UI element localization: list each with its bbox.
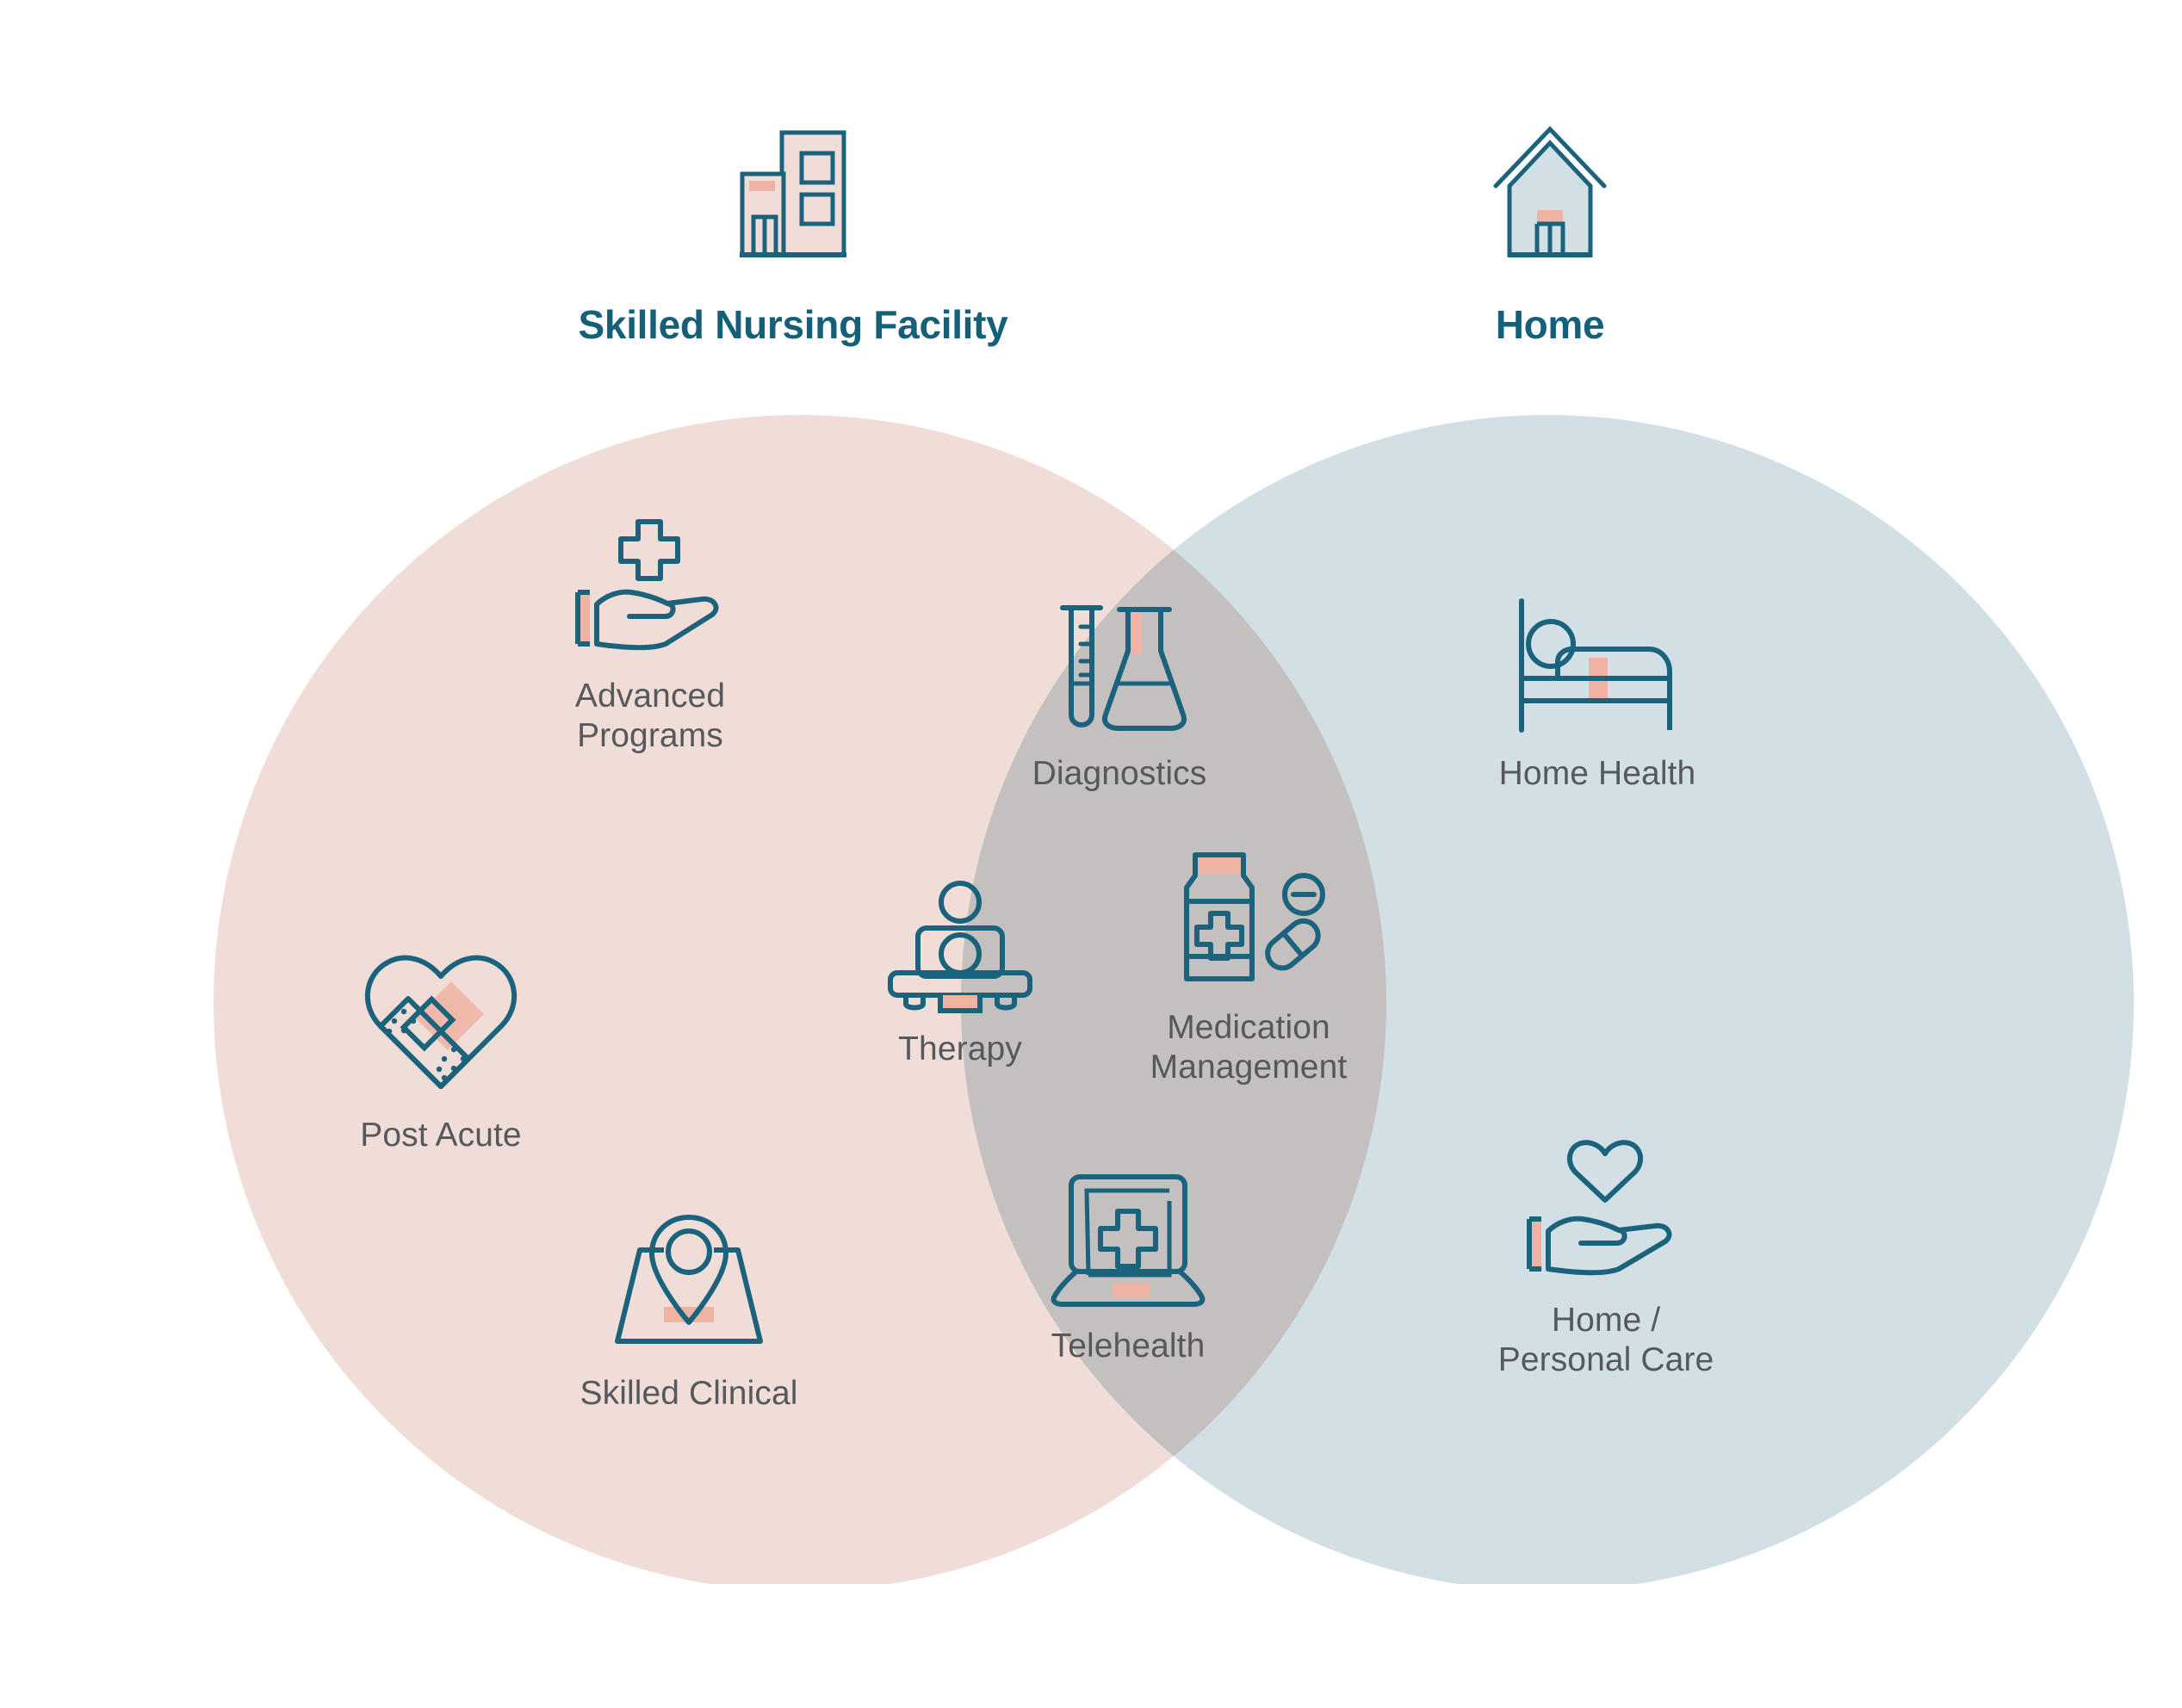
item-home-personal-care: Home / Personal Care — [1464, 1136, 1748, 1380]
item-label: Telehealth — [1051, 1327, 1206, 1366]
item-advanced-programs: Advanced Programs — [508, 517, 792, 756]
item-label: Advanced Programs — [575, 677, 725, 756]
item-medication-management: Medication Management — [1119, 848, 1378, 1087]
person-at-desk-icon — [878, 878, 1042, 1016]
house-icon — [1468, 121, 1632, 284]
laptop-cross-icon — [1042, 1167, 1214, 1313]
map-pin-icon — [607, 1205, 771, 1360]
venn-diagram-canvas: Skilled Nursing Facility Home — [0, 0, 2182, 1708]
item-label: Home / Personal Care — [1498, 1301, 1714, 1380]
item-label: Home Health — [1499, 754, 1696, 794]
test-tube-flask-icon — [1033, 594, 1206, 740]
item-label: Skilled Clinical — [580, 1374, 797, 1414]
header-label: Home — [1496, 301, 1605, 348]
hand-with-heart-icon — [1516, 1136, 1696, 1287]
item-telehealth: Telehealth — [1003, 1167, 1253, 1366]
item-label: Diagnostics — [1032, 754, 1207, 794]
header-skilled-nursing-facility: Skilled Nursing Facility — [526, 121, 1060, 348]
hospital-bed-icon — [1503, 594, 1692, 740]
item-diagnostics: Diagnostics — [990, 594, 1249, 794]
item-label: Post Acute — [360, 1116, 521, 1155]
header-label: Skilled Nursing Facility — [579, 301, 1008, 348]
hospital-building-icon — [711, 121, 875, 284]
header-home: Home — [1231, 121, 1869, 348]
pill-bottle-icon — [1162, 848, 1335, 994]
item-label: Therapy — [898, 1030, 1022, 1069]
hand-with-cross-icon — [564, 517, 736, 663]
item-therapy: Therapy — [848, 878, 1072, 1069]
item-skilled-clinical: Skilled Clinical — [542, 1205, 835, 1414]
item-label: Medication Management — [1150, 1008, 1348, 1087]
heart-bandage-icon — [355, 938, 527, 1102]
item-post-acute: Post Acute — [303, 938, 579, 1155]
item-home-health: Home Health — [1455, 594, 1739, 794]
